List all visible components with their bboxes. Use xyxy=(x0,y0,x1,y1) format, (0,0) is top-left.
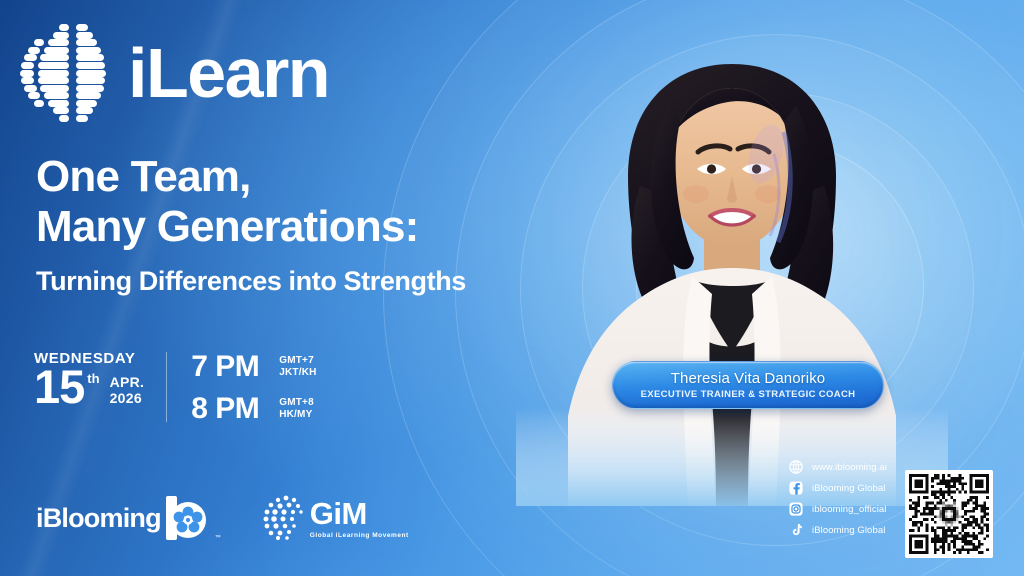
webinar-poster: Theresia Vita Danoriko EXECUTIVE TRAINER… xyxy=(0,0,1024,576)
page-subtitle: Turning Differences into Strengths xyxy=(36,266,536,297)
speaker-role: EXECUTIVE TRAINER & STRATEGIC COACH xyxy=(641,389,856,400)
qr-code-canvas xyxy=(909,474,989,554)
halo-ring-4 xyxy=(582,92,974,484)
time-row-1: 7 PM GMT+7 JKT/KH xyxy=(191,350,316,384)
region-1: JKT/KH xyxy=(279,367,316,379)
gim-wordmark: GiM xyxy=(310,498,409,529)
iblooming-wordmark: iBlooming xyxy=(36,503,161,534)
region-2: HK/MY xyxy=(279,409,314,421)
gmt-offset-2: GMT+8 xyxy=(279,397,314,409)
year-label: 2026 xyxy=(110,391,145,407)
time-value-1: 7 PM xyxy=(191,350,271,384)
facebook-icon xyxy=(789,481,803,495)
social-label-instagram: iblooming_official xyxy=(812,504,887,515)
social-row-website[interactable]: www.iblooming.ai xyxy=(789,460,887,474)
tiktok-icon xyxy=(789,523,803,537)
gim-text-group: GiM Global iLearning Movement xyxy=(310,498,409,539)
iblooming-flower-b-icon xyxy=(160,492,212,544)
social-label-facebook: iBlooming Global xyxy=(812,483,885,494)
ilearn-brain-bars-icon xyxy=(36,24,110,122)
time-row-2: 8 PM GMT+8 HK/MY xyxy=(191,392,316,426)
trademark-symbol: ™ xyxy=(215,535,221,541)
speaker-name-badge: Theresia Vita Danoriko EXECUTIVE TRAINER… xyxy=(612,361,884,409)
day-number: 15 xyxy=(34,365,84,408)
social-row-instagram[interactable]: iblooming_official xyxy=(789,502,887,516)
gim-dotted-globe-icon xyxy=(260,492,312,544)
social-links: www.iblooming.ai iBlooming Global ib xyxy=(789,460,887,537)
social-label-tiktok: iBlooming Global xyxy=(812,525,885,536)
schedule-block: WEDNESDAY 15 th APR. 2026 7 PM GMT+7 JKT… xyxy=(34,350,317,426)
iblooming-logo: iBlooming ™ xyxy=(36,492,212,544)
instagram-icon xyxy=(789,502,803,516)
date-row: 15 th APR. 2026 xyxy=(34,365,144,408)
day-ordinal: th xyxy=(87,371,99,386)
gmt-offset-1: GMT+7 xyxy=(279,355,316,367)
speaker-name: Theresia Vita Danoriko xyxy=(671,370,826,387)
gim-tagline: Global iLearning Movement xyxy=(310,532,409,539)
time-column: 7 PM GMT+7 JKT/KH 8 PM GMT+8 HK/MY xyxy=(167,350,316,426)
gim-logo: GiM Global iLearning Movement xyxy=(260,492,409,544)
social-label-website: www.iblooming.ai xyxy=(812,462,887,473)
ilearn-wordmark: iLearn xyxy=(128,38,329,108)
title-line-2: Many Generations: xyxy=(36,202,536,252)
time-value-2: 8 PM xyxy=(191,392,271,426)
social-row-tiktok[interactable]: iBlooming Global xyxy=(789,523,887,537)
partner-logos: iBlooming ™ xyxy=(36,492,409,544)
social-row-facebook[interactable]: iBlooming Global xyxy=(789,481,887,495)
ilearn-logo: iLearn xyxy=(36,24,329,122)
date-column: WEDNESDAY 15 th APR. 2026 xyxy=(34,350,166,426)
month-year: APR. 2026 xyxy=(110,375,145,406)
qr-code-icon[interactable] xyxy=(905,470,993,558)
month-label: APR. xyxy=(110,375,145,391)
timezone-1: GMT+7 JKT/KH xyxy=(279,355,316,379)
speaker-photo xyxy=(516,36,948,506)
timezone-2: GMT+8 HK/MY xyxy=(279,397,314,421)
title-line-1: One Team, xyxy=(36,152,536,202)
globe-icon xyxy=(789,460,803,474)
page-title: One Team, Many Generations: Turning Diff… xyxy=(36,152,536,297)
